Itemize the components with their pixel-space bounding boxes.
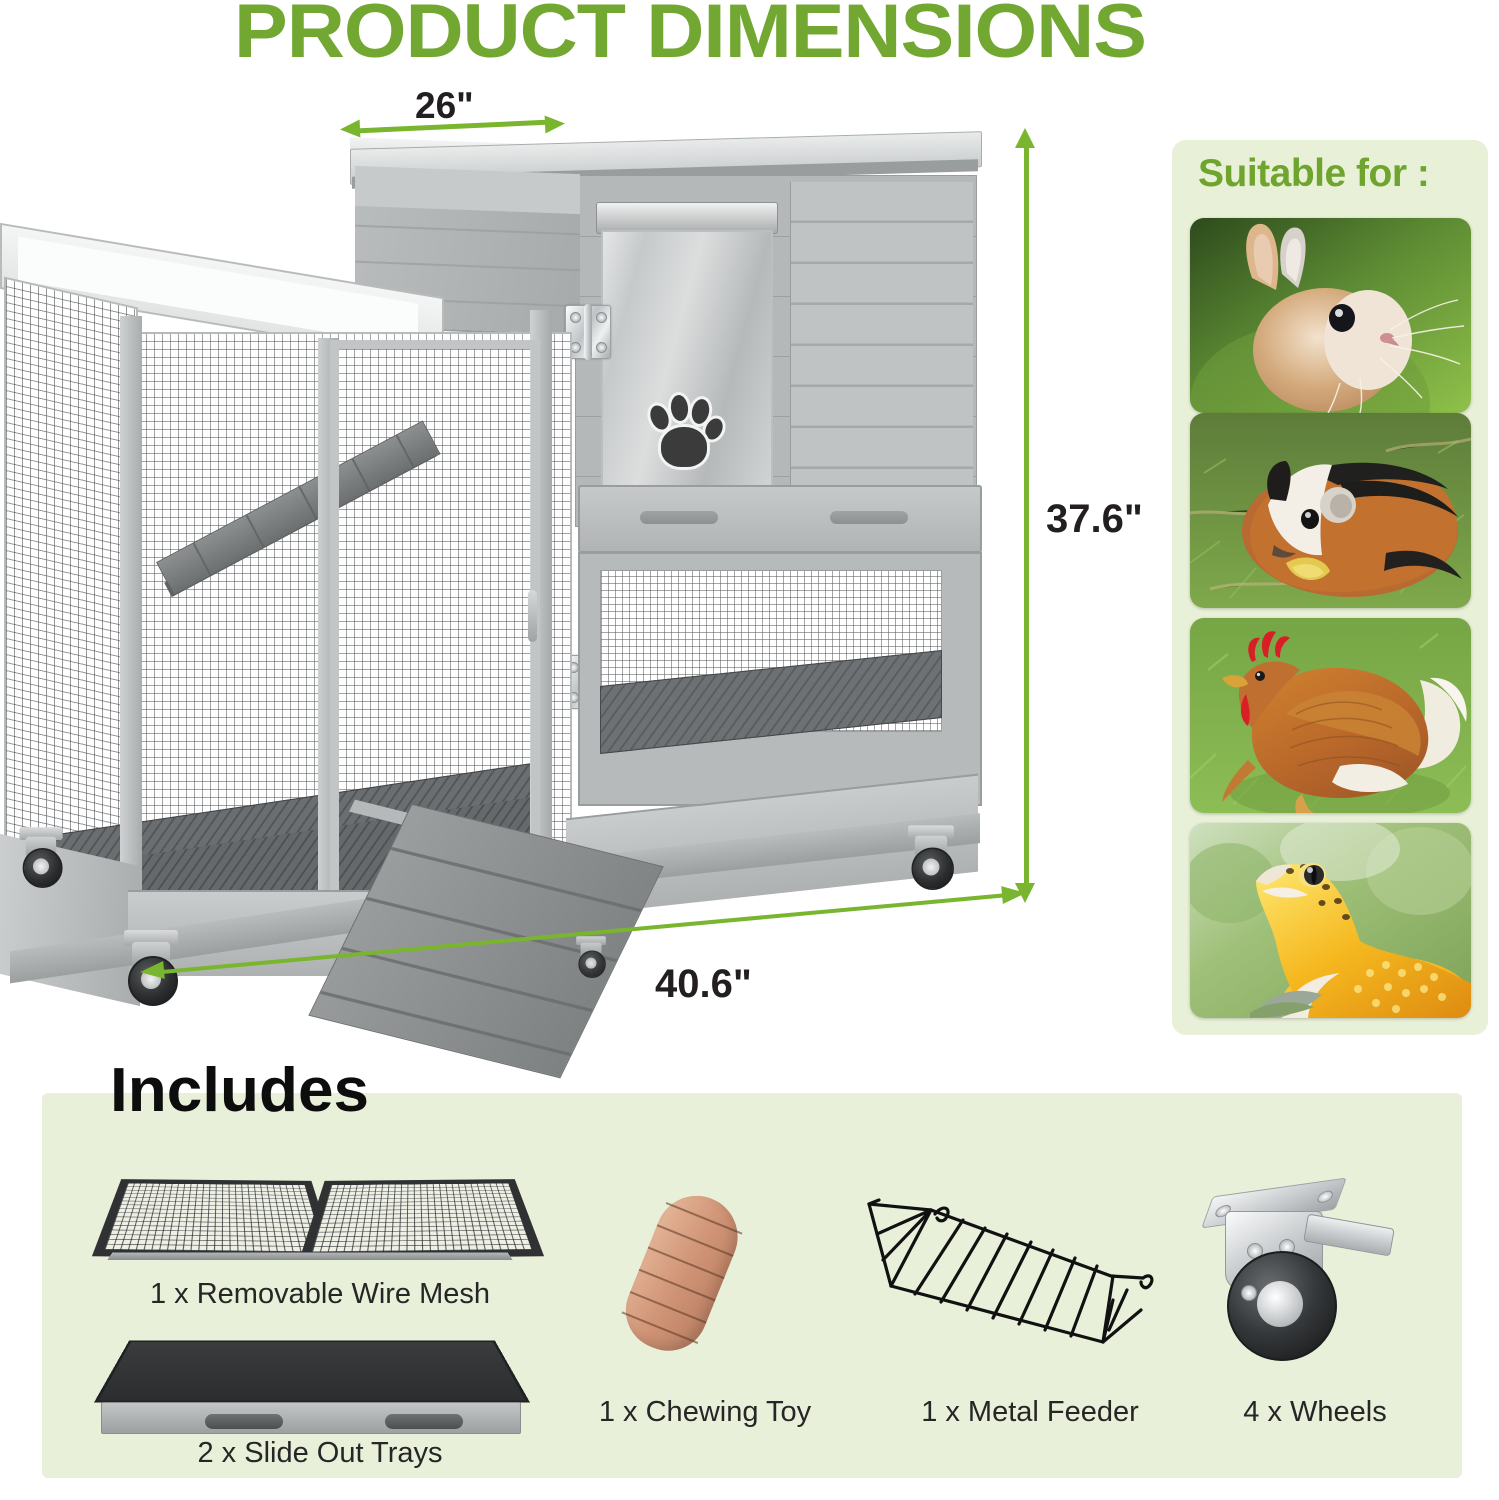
hutch-upper-left-top — [355, 166, 580, 214]
drawer-handle[interactable] — [830, 511, 908, 524]
paw-print-icon — [640, 388, 722, 468]
drawer-handle[interactable] — [640, 511, 718, 524]
suitable-animal-photo-chicken — [1190, 618, 1471, 813]
caster-wheel-icon — [1185, 1185, 1395, 1365]
run-corner-post — [120, 316, 142, 916]
includes-item-label: 2 x Slide Out Trays — [80, 1437, 560, 1470]
height-dimension-label: 37.6" — [1046, 497, 1143, 542]
wire-mesh-icon — [4, 277, 138, 872]
includes-item-label: 1 x Metal Feeder — [880, 1396, 1180, 1429]
depth-dimension-arrow — [140, 900, 1040, 1010]
includes-item-label: 1 x Chewing Toy — [555, 1396, 855, 1429]
height-dimension-arrow — [1013, 128, 1039, 903]
caster-wheel-icon — [905, 825, 958, 886]
width-dimension-arrow — [340, 112, 565, 138]
chewing-toy-icon — [615, 1185, 765, 1365]
includes-title: Includes — [110, 1055, 369, 1126]
wire-mesh-panel-icon — [100, 1145, 520, 1275]
suitable-animal-photo-lizard — [1190, 823, 1471, 1018]
metal-feeder-icon — [855, 1190, 1155, 1370]
slide-out-drawer[interactable] — [578, 485, 982, 553]
includes-item-label: 4 x Wheels — [1190, 1396, 1440, 1429]
includes-item-label: 1 x Removable Wire Mesh — [80, 1278, 560, 1311]
suitable-for-title: Suitable for : — [1198, 152, 1478, 196]
door-handle[interactable] — [528, 590, 537, 642]
hutch-side-siding — [790, 182, 973, 520]
suitable-animal-photo-rabbit — [1190, 218, 1471, 413]
suitable-animal-photo-guinea-pig — [1190, 413, 1471, 608]
slide-out-tray-icon — [95, 1310, 525, 1440]
page-title: PRODUCT DIMENSIONS — [171, 0, 1210, 72]
infographic-root: PRODUCT DIMENSIONS — [0, 0, 1499, 1500]
caster-wheel-icon — [16, 827, 66, 885]
